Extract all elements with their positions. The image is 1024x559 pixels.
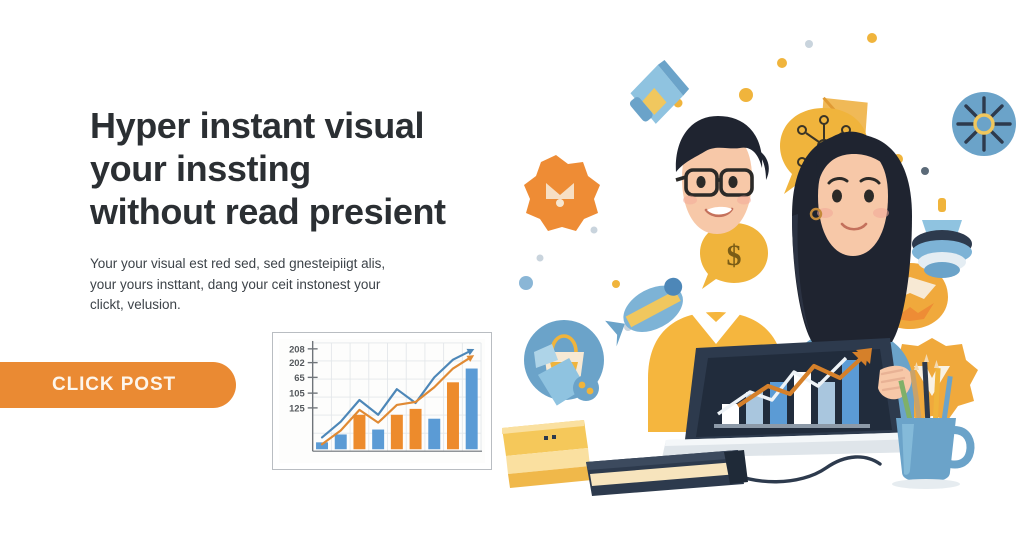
page-title: Hyper instant visual your inssting witho… [90, 104, 490, 234]
svg-text:$: $ [727, 239, 742, 272]
marketing-banner: Hyper instant visual your inssting witho… [0, 0, 1024, 559]
svg-text:65: 65 [294, 373, 304, 383]
growth-chart-panel: 20820265105125 [272, 332, 492, 470]
headline-line-1: Hyper instant visual [90, 104, 490, 147]
click-post-button[interactable]: CLICK POST [0, 362, 236, 408]
laptop-with-growth-chart [662, 338, 924, 458]
illustration-area: $ [500, 0, 1024, 559]
svg-text:208: 208 [289, 344, 305, 354]
bar-and-line-chart: 20820265105125 [279, 339, 485, 463]
dark-notebook [586, 450, 748, 496]
svg-text:105: 105 [289, 389, 305, 399]
svg-text:202: 202 [289, 358, 305, 368]
gear-circle-icon [952, 92, 1016, 156]
headline-line-3: without read presient [90, 190, 490, 233]
copy-column: Hyper instant visual your inssting witho… [0, 0, 512, 559]
subcopy-line-1: Your your visual est red sed, sed gneste… [90, 254, 462, 275]
headline-line-2: your inssting [90, 147, 490, 190]
people-laptop-illustration: $ [500, 0, 1024, 559]
lamp-icon [912, 198, 972, 278]
megaphone-icon [618, 56, 696, 131]
chart-inner: 20820265105125 [279, 339, 485, 463]
subcopy-line-3: clickt, velusion. [90, 295, 462, 316]
svg-text:125: 125 [289, 403, 305, 413]
target-badge-icon [524, 155, 600, 231]
click-post-button-label: CLICK POST [26, 374, 176, 396]
yellow-book-stack [502, 420, 592, 488]
subheading-paragraph: Your your visual est red sed, sed gneste… [90, 254, 462, 316]
subcopy-line-2: your yours insttant, dang your ceit inst… [90, 275, 462, 296]
